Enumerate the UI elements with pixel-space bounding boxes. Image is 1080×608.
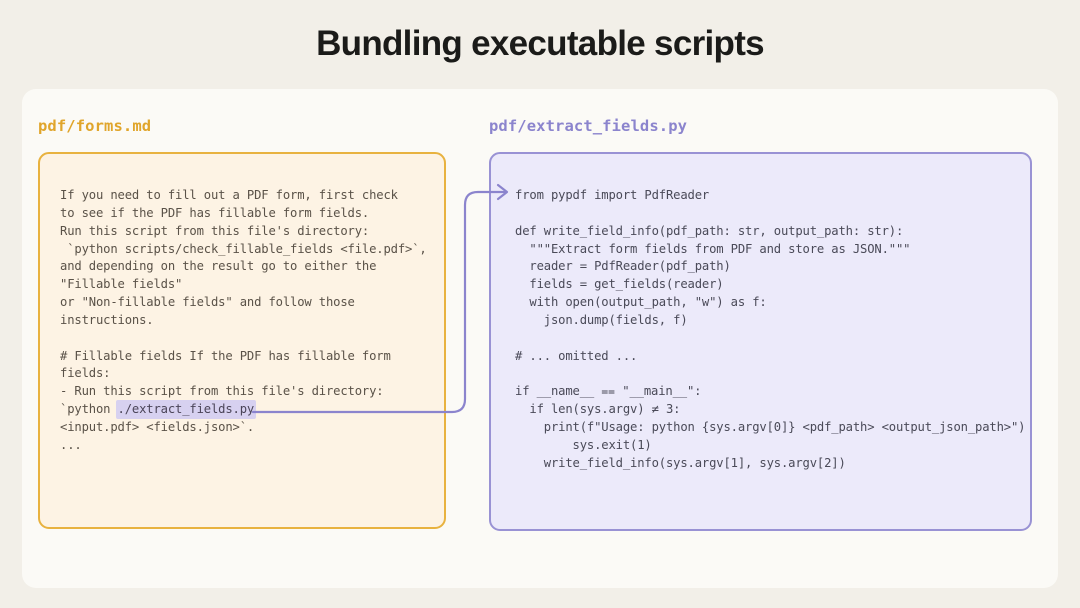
python-panel: from pypdf import PdfReader def write_fi… — [489, 152, 1032, 531]
page-title: Bundling executable scripts — [0, 24, 1080, 64]
markdown-text-after-highlight: <input.pdf> <fields.json>`. ... — [60, 420, 254, 452]
script-reference-highlight[interactable]: ./extract_fields.py — [116, 400, 257, 419]
right-panel-file-label: pdf/extract_fields.py — [489, 117, 687, 135]
markdown-text-before-highlight: If you need to fill out a PDF form, firs… — [60, 188, 427, 416]
markdown-panel-content: If you need to fill out a PDF form, firs… — [60, 187, 427, 455]
left-panel-file-label: pdf/forms.md — [38, 117, 151, 135]
markdown-panel: If you need to fill out a PDF form, firs… — [38, 152, 446, 529]
python-panel-content: from pypdf import PdfReader def write_fi… — [515, 187, 1025, 473]
